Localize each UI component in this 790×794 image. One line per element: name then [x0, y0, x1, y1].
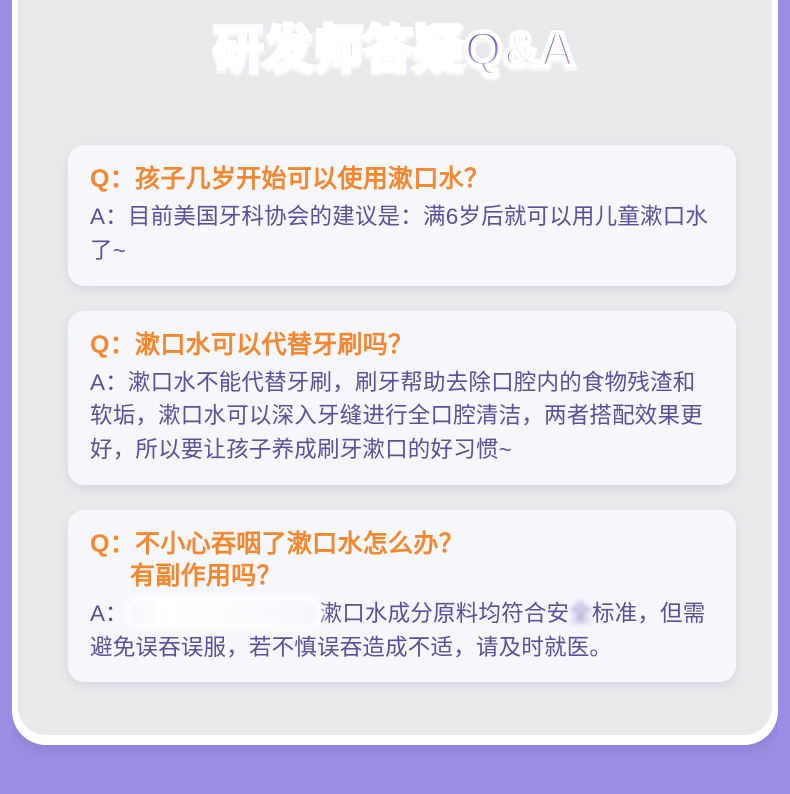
faq-question: Q：孩子几岁开始可以使用漱口水？ [90, 163, 716, 195]
answer-label: A： [90, 601, 128, 626]
faq-answer: A：目前美国牙科协会的建议是：满6岁后就可以用儿童漱口水了~ [90, 200, 716, 268]
redacted-character: 全 [569, 597, 592, 631]
page-title-container: 研发师答疑Q&A [18, 26, 772, 75]
page-title: 研发师答疑Q&A [214, 26, 576, 75]
page-root: 研发师答疑Q&A Q：孩子几岁开始可以使用漱口水？ A：目前美国牙科协会的建议是… [0, 0, 790, 794]
content-panel: 研发师答疑Q&A Q：孩子几岁开始可以使用漱口水？ A：目前美国牙科协会的建议是… [18, 0, 772, 735]
faq-card[interactable]: Q：不小心吞咽了漱口水怎么办？ 有副作用吗？ A：漱口水成分原料均符合安全标准，… [68, 510, 736, 683]
answer-text-part1: 漱口水成分原料均符合安 [320, 601, 570, 626]
faq-question: Q：漱口水可以代替牙刷吗？ [90, 329, 716, 361]
faq-answer: A：漱口水不能代替牙刷，刷牙帮助去除口腔内的食物残渣和软垢，漱口水可以深入牙缝进… [90, 366, 716, 467]
redacted-brand-name [130, 601, 318, 625]
faq-card[interactable]: Q：漱口水可以代替牙刷吗？ A：漱口水不能代替牙刷，刷牙帮助去除口腔内的食物残渣… [68, 311, 736, 485]
left-edge-strip [0, 0, 12, 794]
faq-card[interactable]: Q：孩子几岁开始可以使用漱口水？ A：目前美国牙科协会的建议是：满6岁后就可以用… [68, 145, 736, 286]
faq-list: Q：孩子几岁开始可以使用漱口水？ A：目前美国牙科协会的建议是：满6岁后就可以用… [68, 145, 736, 707]
faq-question: Q：不小心吞咽了漱口水怎么办？ [90, 528, 716, 560]
faq-answer: A：漱口水成分原料均符合安全标准，但需避免误吞误服，若不慎误吞造成不适，请及时就… [90, 597, 716, 665]
right-edge-strip [778, 0, 790, 794]
faq-question-continued: 有副作用吗？ [90, 560, 716, 592]
